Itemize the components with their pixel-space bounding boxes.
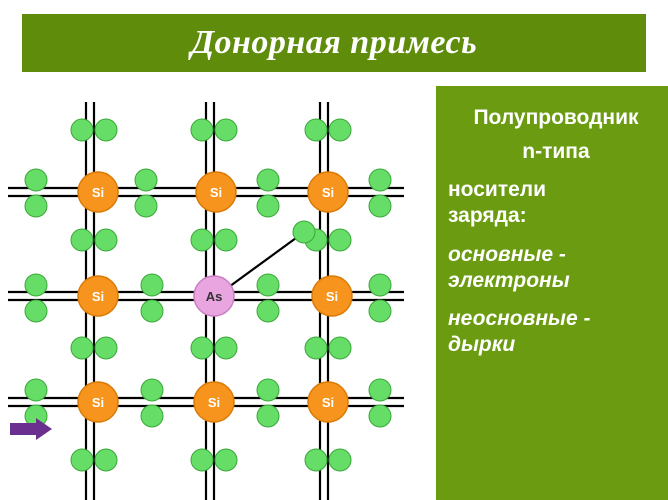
- electron-dot: [369, 300, 391, 322]
- electron-dot: [95, 229, 117, 251]
- electron-dot: [71, 119, 93, 141]
- electron-dot: [25, 379, 47, 401]
- info-panel: Полупроводник n-типа носители заряда: ос…: [446, 96, 666, 496]
- electron-dot: [369, 169, 391, 191]
- panel-heading-line1: Полупроводник: [446, 106, 666, 130]
- atom-si-1-0: Si: [78, 276, 118, 316]
- electron-dot: [369, 405, 391, 427]
- panel-major-line2: электроны: [448, 269, 666, 293]
- electron-dot: [305, 449, 327, 471]
- atom-label: Si: [92, 185, 104, 200]
- electron-dot: [191, 449, 213, 471]
- atom-label: Si: [322, 395, 334, 410]
- panel-carriers-label: носители: [448, 178, 666, 202]
- atom-label: Si: [92, 289, 104, 304]
- panel-heading-line2: n-типа: [446, 140, 666, 164]
- electron-dot: [95, 337, 117, 359]
- atom-si-2-0: Si: [78, 382, 118, 422]
- electron-dot: [141, 274, 163, 296]
- electron-dot: [71, 449, 93, 471]
- electron-dot: [215, 337, 237, 359]
- atom-label: Si: [322, 185, 334, 200]
- electron-dot: [191, 119, 213, 141]
- panel-minor-line2: дырки: [448, 333, 666, 357]
- atom-si-2-2: Si: [308, 382, 348, 422]
- crystal-lattice-diagram: Si Si Si Si As: [0, 80, 440, 500]
- atom-label: Si: [92, 395, 104, 410]
- panel-major-line1: основные -: [448, 243, 666, 267]
- electron-dot: [141, 379, 163, 401]
- purple-arrow-icon: [10, 418, 54, 440]
- electron-dot: [25, 169, 47, 191]
- atom-si-0-0: Si: [78, 172, 118, 212]
- electron-dot: [215, 229, 237, 251]
- electron-dot: [215, 449, 237, 471]
- atom-as-dopant: As: [194, 276, 234, 316]
- electron-dot: [215, 119, 237, 141]
- atoms: Si Si Si Si As: [78, 172, 352, 422]
- free-electron-dot: [293, 221, 315, 243]
- electron-dot: [369, 195, 391, 217]
- electron-dot: [257, 379, 279, 401]
- electron-dot: [135, 195, 157, 217]
- electron-dot: [257, 274, 279, 296]
- page-title: Донорная примесь: [22, 14, 646, 72]
- electron-dot: [329, 229, 351, 251]
- electron-dot: [369, 379, 391, 401]
- electron-dot: [25, 300, 47, 322]
- panel-charge-label: заряда:: [448, 204, 666, 228]
- electron-dot: [71, 337, 93, 359]
- electron-dot: [141, 405, 163, 427]
- atom-si-2-1: Si: [194, 382, 234, 422]
- atom-si-0-1: Si: [196, 172, 236, 212]
- electron-dot: [329, 337, 351, 359]
- electron-dot: [25, 195, 47, 217]
- electron-dot: [257, 169, 279, 191]
- atom-si-0-2: Si: [308, 172, 348, 212]
- electron-dot: [305, 337, 327, 359]
- electron-dot: [329, 449, 351, 471]
- electron-dot: [141, 300, 163, 322]
- electron-dot: [95, 449, 117, 471]
- electron-dot: [191, 229, 213, 251]
- atom-si-1-2: Si: [312, 276, 352, 316]
- electron-dot: [369, 274, 391, 296]
- dopant-label: As: [206, 289, 223, 304]
- electron-dot: [329, 119, 351, 141]
- atom-label: Si: [326, 289, 338, 304]
- electron-dot: [305, 119, 327, 141]
- electron-dot: [25, 274, 47, 296]
- electron-dot: [191, 337, 213, 359]
- electron-dot: [71, 229, 93, 251]
- electron-dot: [135, 169, 157, 191]
- electron-dot: [257, 195, 279, 217]
- atom-label: Si: [208, 395, 220, 410]
- electron-dot: [257, 300, 279, 322]
- electron-dot: [95, 119, 117, 141]
- electron-dot: [257, 405, 279, 427]
- atom-label: Si: [210, 185, 222, 200]
- panel-minor-line1: неосновные -: [448, 307, 666, 331]
- slide: Донорная примесь Полупроводник n-типа но…: [0, 0, 668, 500]
